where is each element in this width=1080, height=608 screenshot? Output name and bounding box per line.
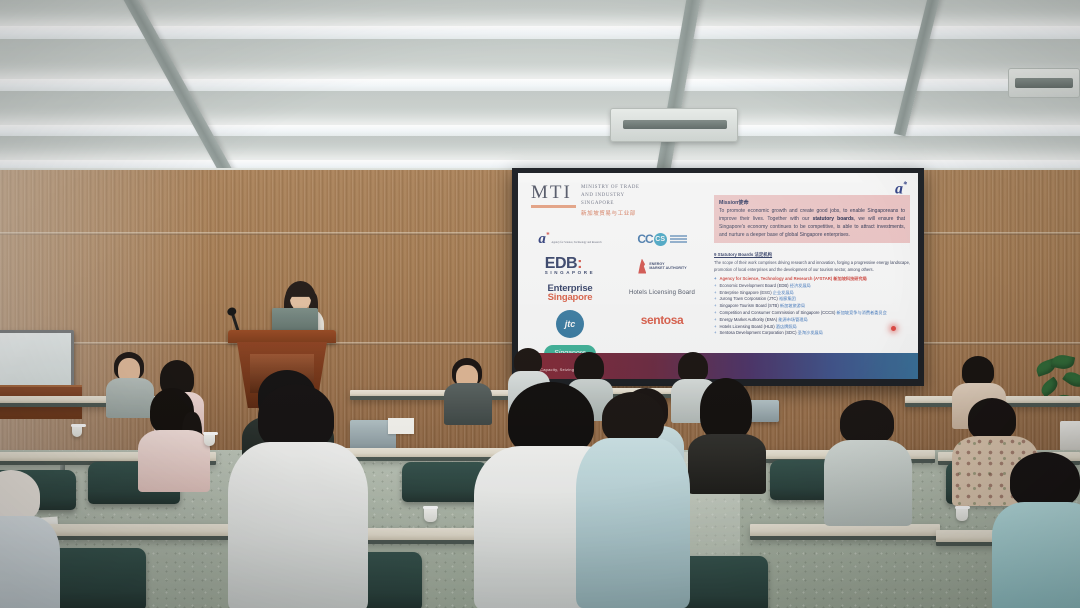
- torso: [444, 383, 492, 425]
- hair: [258, 384, 334, 450]
- slide-text-column: Mission使命 To promote economic growth and…: [714, 195, 910, 337]
- mti-logo: MTI MINISTRY OF TRADE AND INDUSTRY SINGA…: [531, 183, 651, 208]
- laser-pointer-dot: [891, 326, 896, 331]
- board-name: Agency for Science, Technology and Resea…: [719, 276, 832, 281]
- paper-cup: [204, 432, 215, 446]
- energy-market-authority-logo: ENERGYMARKET AUTHORITY: [620, 256, 704, 276]
- statutory-boards-intro: The scope of their work comprises drivin…: [714, 260, 910, 273]
- bullet-icon: +: [714, 303, 716, 310]
- desk: [750, 524, 940, 540]
- sentosa-logo: sentosa: [620, 310, 704, 330]
- bullet-icon: +: [714, 330, 716, 337]
- astar-logo-star: *: [546, 231, 550, 239]
- paper-cup: [956, 506, 968, 521]
- torso: [992, 502, 1080, 608]
- a-star-logo: a*Agency for Science, Technology and Res…: [528, 229, 612, 249]
- ceiling-ac-vent-center: [610, 108, 738, 142]
- torso: [106, 378, 154, 418]
- board-name-cn: 裕廊集团: [779, 296, 796, 301]
- ceiling: [0, 0, 1080, 178]
- mission-bold-statutory-boards: statutory boards: [813, 216, 854, 222]
- board-name-cn: 酒店牌照局: [776, 324, 797, 329]
- list-item: +Sentosa Development Corporation (SDC) 圣…: [714, 330, 910, 337]
- ema-flame-icon: [637, 259, 646, 274]
- statutory-boards-list: +Agency for Science, Technology and Rese…: [714, 276, 910, 337]
- paper-cup: [72, 424, 82, 437]
- board-name-cn: 新加坡科技研究局: [833, 276, 867, 281]
- ministry-line-1: MINISTRY OF TRADE: [581, 184, 640, 192]
- board-name-cn: 新加坡竞争与消费者委员会: [837, 310, 887, 315]
- ema-sub: MARKET AUTHORITY: [649, 266, 686, 270]
- astar-logo-letter: a: [538, 231, 546, 247]
- cccs-bars: [670, 235, 687, 243]
- cccs-ring: CS: [654, 233, 667, 246]
- hair: [678, 352, 708, 382]
- torso: [576, 438, 690, 608]
- bullet-icon: +: [714, 317, 716, 324]
- board-name: Competition and Consumer Commission of S…: [719, 310, 835, 315]
- hlb-label: Hotels Licensing Board: [629, 290, 695, 296]
- board-name-cn: 能源市场管理局: [778, 317, 807, 322]
- hair: [962, 356, 994, 386]
- bullet-icon: +: [714, 310, 716, 317]
- hair: [574, 352, 604, 382]
- hair: [508, 382, 594, 456]
- podium-laptop: [272, 308, 318, 332]
- list-item: +Economic Development Board (EDB) 经济发展局: [714, 283, 910, 290]
- hair: [1010, 452, 1080, 508]
- paper-document: [388, 418, 414, 434]
- board-name: Singapore Tourism Board (STB): [719, 303, 778, 308]
- bullet-icon: +: [714, 324, 716, 331]
- enterprise-singapore-label: Singapore: [548, 293, 593, 303]
- hotels-licensing-board-logo: Hotels Licensing Board: [620, 283, 704, 303]
- board-name: Enterprise Singapore (ESG): [719, 290, 771, 295]
- statutory-boards-heading: 9 Statutory Boards 法定机构: [714, 252, 910, 258]
- cccs-logo: CC CS: [620, 229, 704, 249]
- jtc-label: jtc: [556, 310, 584, 338]
- ministry-line-2: AND INDUSTRY: [581, 192, 640, 200]
- desk: [350, 390, 530, 400]
- list-item: +Energy Market Authority (EMA) 能源市场管理局: [714, 317, 910, 324]
- torso: [824, 440, 912, 526]
- hair: [840, 400, 894, 444]
- podium-top: [228, 330, 336, 343]
- paper-cup: [424, 506, 437, 522]
- hair: [700, 378, 752, 440]
- ema-label: ENERGY: [649, 262, 664, 266]
- board-name: Sentosa Development Corporation (SDC): [719, 330, 796, 335]
- torso: [228, 442, 368, 608]
- board-name: Jurong Town Corporation (JTC): [719, 296, 777, 301]
- astar-logo-sub: Agency for Science, Technology and Resea…: [551, 241, 601, 245]
- torso: [688, 434, 766, 494]
- list-item: +Competition and Consumer Commission of …: [714, 310, 910, 317]
- board-name: Energy Market Authority (EMA): [719, 317, 777, 322]
- bullet-icon: +: [714, 296, 716, 303]
- mti-orange-rule: [531, 205, 576, 208]
- board-name-cn: 新加坡旅游局: [780, 303, 805, 308]
- edb-sub: SINGAPORE: [545, 271, 595, 275]
- torso: [0, 516, 60, 608]
- ministry-chinese: 新加坡贸易与工业部: [581, 209, 640, 217]
- presentation-slide: MTI MINISTRY OF TRADE AND INDUSTRY SINGA…: [518, 173, 918, 379]
- bullet-icon: +: [714, 276, 716, 283]
- list-item: +Agency for Science, Technology and Rese…: [714, 276, 910, 283]
- astar-star: *: [903, 180, 907, 189]
- seminar-room-photo: MTI MINISTRY OF TRADE AND INDUSTRY SINGA…: [0, 0, 1080, 608]
- bullet-icon: +: [714, 283, 716, 290]
- enterprise-singapore-logo: Enterprise Singapore: [528, 283, 612, 303]
- hair: [968, 398, 1016, 440]
- hair: [602, 392, 664, 444]
- board-name: Hotels Licensing Board (HLB): [719, 324, 774, 329]
- torso: [138, 430, 210, 492]
- potted-plant: [1034, 355, 1080, 460]
- ministry-line-3: SINGAPORE: [581, 200, 640, 208]
- mission-heading: Mission使命: [719, 199, 905, 206]
- board-name: Economic Development Board (EDB): [719, 283, 788, 288]
- board-name-cn: 经济发展局: [790, 283, 811, 288]
- plant-pot: [1060, 421, 1080, 451]
- edb-singapore-logo: EDB:SINGAPORE: [528, 256, 612, 276]
- mission-body: To promote economic growth and create go…: [719, 207, 905, 239]
- board-name-cn: 圣淘沙发展局: [798, 330, 823, 335]
- ceiling-ac-vent-right: [1008, 68, 1080, 98]
- projection-screen: MTI MINISTRY OF TRADE AND INDUSTRY SINGA…: [512, 168, 924, 386]
- mission-highlight-box: Mission使命 To promote economic growth and…: [714, 195, 910, 243]
- jtc-logo: jtc: [528, 310, 612, 338]
- cccs-letters: CC: [637, 232, 652, 246]
- board-name-cn: 企业发展局: [773, 290, 794, 295]
- sentosa-label: sentosa: [641, 313, 684, 327]
- bullet-icon: +: [714, 290, 716, 297]
- mti-ministry-lines: MINISTRY OF TRADE AND INDUSTRY SINGAPORE…: [581, 184, 640, 217]
- whiteboard: [0, 330, 74, 388]
